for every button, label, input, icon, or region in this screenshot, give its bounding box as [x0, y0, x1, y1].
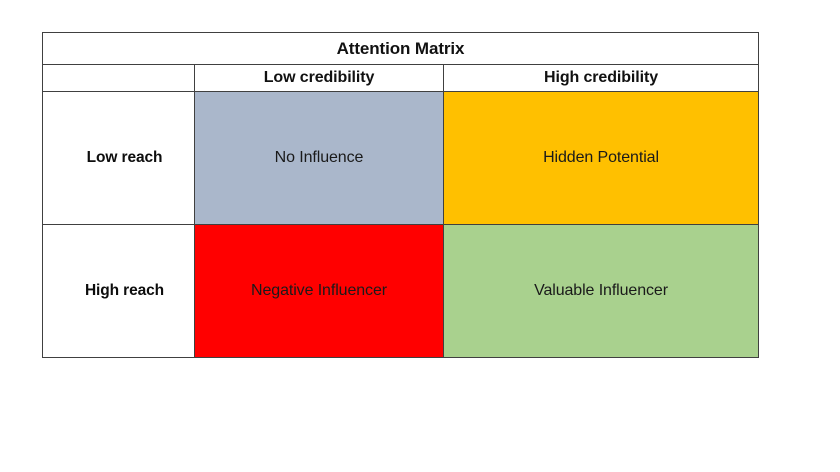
column-header-high-credibility: High credibility [444, 65, 759, 92]
matrix-corner-cell [43, 65, 195, 92]
quadrant-hidden-potential: Hidden Potential [444, 92, 759, 225]
row-header-high-reach: High reach [43, 225, 195, 358]
quadrant-valuable-influencer: Valuable Influencer [444, 225, 759, 358]
matrix-column-header-row: Low credibility High credibility [43, 65, 759, 92]
slide-canvas: Attention Matrix Low credibility High cr… [0, 0, 840, 472]
quadrant-no-influence: No Influence [195, 92, 444, 225]
matrix-title-row: Attention Matrix [43, 33, 759, 65]
column-header-low-credibility: Low credibility [195, 65, 444, 92]
matrix-row-high-reach: High reach Negative Influencer Valuable … [43, 225, 759, 358]
matrix-row-low-reach: Low reach No Influence Hidden Potential [43, 92, 759, 225]
row-header-low-reach: Low reach [43, 92, 195, 225]
quadrant-negative-influencer: Negative Influencer [195, 225, 444, 358]
matrix-title: Attention Matrix [43, 33, 759, 65]
attention-matrix-table: Attention Matrix Low credibility High cr… [42, 32, 759, 358]
